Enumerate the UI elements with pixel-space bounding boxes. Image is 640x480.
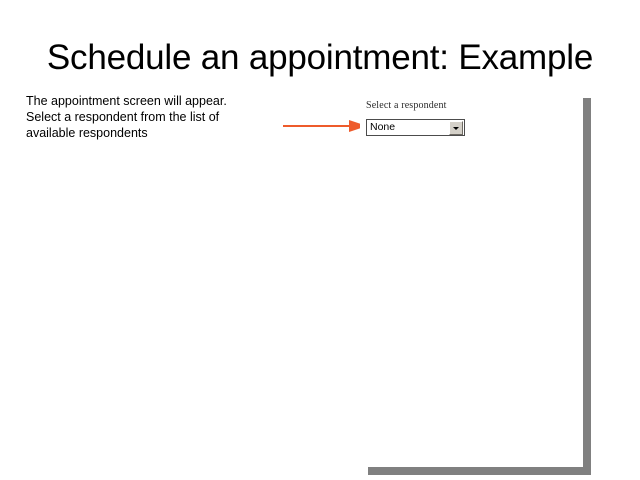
chevron-down-icon[interactable]	[449, 121, 463, 135]
appointment-screen: Select a respondent None	[360, 92, 583, 467]
page-title: Schedule an appointment: Example	[28, 38, 612, 78]
screenshot-shadow-bottom	[368, 467, 591, 475]
annotation-arrow	[283, 119, 367, 133]
screenshot-shadow-right	[583, 98, 591, 475]
respondent-selected-value: None	[367, 120, 449, 135]
respondent-field-label: Select a respondent	[366, 100, 447, 111]
caption-text: The appointment screen will appear. Sele…	[26, 93, 256, 141]
respondent-select[interactable]: None	[366, 119, 465, 136]
embedded-app-screenshot: Select a respondent None	[360, 92, 591, 475]
arrow-right-icon	[283, 119, 367, 133]
caret-glyph	[453, 127, 459, 130]
presentation-slide: Schedule an appointment: Example The app…	[0, 0, 640, 480]
